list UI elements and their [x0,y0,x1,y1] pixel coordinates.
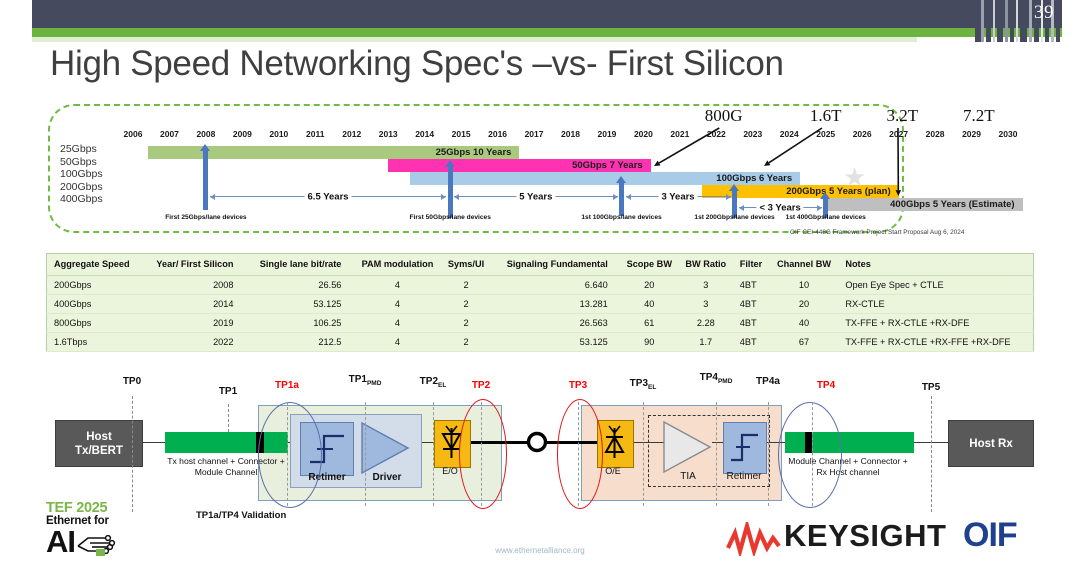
table-cell-r3-c2: 212.5 [246,333,354,352]
timeline-year-2026: 2026 [853,129,872,139]
table-cell-r0-c1: 2008 [143,276,246,295]
duration-span-label-0: 6.5 Years [305,192,352,203]
tx-host-channel-bar [165,432,260,453]
table-col-header-7: BW Ratio [679,254,733,276]
host-rx-block: Host Rx [948,420,1034,467]
table-cell-r3-c6: 90 [620,333,679,352]
table-col-header-5: Signaling Fundamental [490,254,619,276]
table-cell-r1-c6: 40 [620,295,679,314]
table-col-header-9: Channel BW [770,254,839,276]
first-silicon-tick-2 [619,182,624,216]
table-cell-r0-c7: 3 [679,276,733,295]
table-cell-r2-c2: 106.25 [246,314,354,333]
spec-table-wrapper: Aggregate SpeedYear/ First SiliconSingle… [46,253,1034,352]
timeline-year-2030: 2030 [999,129,1018,139]
first-silicon-label-1: First 50Gbps/lane devices [410,214,491,221]
table-cell-r0-c5: 6.640 [490,276,619,295]
timeline-year-2014: 2014 [415,129,434,139]
eo-label: E/O [442,466,458,476]
first-silicon-label-2: 1st 100Gbps/lane devices [581,214,661,221]
table-col-header-3: PAM modulation [353,254,441,276]
table-row: 800Gbps2019106.254226.563612.284BT40TX-F… [47,314,1034,333]
first-silicon-label-4: 1st 400Gbps/lane devices [786,214,866,221]
test-point-label-tp2: TP2 [472,380,490,391]
header-accent-bar-light [32,37,917,42]
fiber-connector-icon [523,429,551,455]
duration-span-label-2: 3 Years [658,192,697,203]
table-col-header-6: Scope BW [620,254,679,276]
timeline-bar-1: 50Gbps 7 Years [388,159,651,172]
duration-span-label-3: < 3 Years [756,203,803,214]
generation-label-1.6T: 1.6T [810,106,842,126]
timeline-year-2016: 2016 [488,129,507,139]
timeline-year-2018: 2018 [561,129,580,139]
tp5-dashline [931,396,932,512]
timeline-year-2009: 2009 [233,129,252,139]
host-rx-label: Host Rx [969,437,1012,451]
timeline-year-2017: 2017 [525,129,544,139]
table-cell-r3-c10: TX-FFE + RX-CTLE +RX-FFE +RX-DFE [838,333,1033,352]
test-point-label-tp4pmd: TP4PMD [700,372,733,385]
timeline-bar-label-3: 200Gbps 5 Years (plan) [786,186,890,197]
driver-label: Driver [373,472,402,483]
tp4-ellipse [778,402,842,508]
table-row: 1.6Tbps2022212.54253.125901.74BT67TX-FFE… [47,333,1034,352]
table-col-header-10: Notes [838,254,1033,276]
timeline: 2006200720082009201020112012201320142015… [48,104,1048,234]
test-point-label-tp4: TP4 [817,380,835,391]
table-col-header-1: Year/ First Silicon [143,254,246,276]
tp3-ellipse [557,399,603,509]
timeline-year-2010: 2010 [269,129,288,139]
table-row: 200Gbps200826.56426.6402034BT10Open Eye … [47,276,1034,295]
tef-logo-line1: TEF 2025 [46,500,136,516]
first-silicon-tick-1 [448,166,453,218]
rx-retimer-waveform-icon [723,422,765,472]
tp2el-dashline [433,402,434,506]
timeline-bar-label-2: 100Gbps 6 Years [716,173,792,184]
table-cell-r1-c0: 400Gbps [47,295,143,314]
spec-table: Aggregate SpeedYear/ First SiliconSingle… [46,253,1034,352]
table-cell-r3-c5: 53.125 [490,333,619,352]
table-header-row: Aggregate SpeedYear/ First SiliconSingle… [47,254,1034,276]
table-col-header-0: Aggregate Speed [47,254,143,276]
table-cell-r3-c8: 4BT [733,333,770,352]
table-cell-r2-c6: 61 [620,314,679,333]
tp4-dashline [812,402,813,506]
header-stripes [975,0,1080,42]
table-cell-r2-c10: TX-FFE + RX-CTLE +RX-DFE [838,314,1033,333]
generation-arrow-3.2T [886,124,910,204]
table-cell-r1-c10: RX-CTLE [838,295,1033,314]
table-cell-r3-c9: 67 [770,333,839,352]
timeline-year-2012: 2012 [342,129,361,139]
tp4a-dashline [768,402,769,506]
table-cell-r2-c5: 26.563 [490,314,619,333]
test-point-label-tp1: TP1 [219,386,237,397]
table-cell-r1-c2: 53.125 [246,295,354,314]
table-cell-r3-c1: 2022 [143,333,246,352]
table-cell-r3-c0: 1.6Tbps [47,333,143,352]
tia-label: TIA [680,471,696,482]
timeline-year-2028: 2028 [926,129,945,139]
first-silicon-label-0: First 25Gbps/lane devices [165,214,246,221]
tp1a-dashline [287,402,288,506]
duration-span-label-1: 5 Years [516,192,555,203]
test-point-label-tp1pmd: TP1PMD [349,374,382,387]
table-cell-r0-c4: 2 [442,276,491,295]
tp4pmd-dashline [716,402,717,506]
decorative-star-icon: ★ [843,164,869,190]
table-cell-r0-c8: 4BT [733,276,770,295]
first-silicon-label-3: 1st 200Gbps/lane devices [694,214,774,221]
driver-amplifier-icon [358,419,414,477]
first-silicon-tick-0 [203,150,208,210]
timeline-bar-2: 100Gbps 6 Years [410,172,800,185]
test-point-label-tp3el: TP3EL [630,378,657,391]
table-body: 200Gbps200826.56426.6402034BT10Open Eye … [47,276,1034,352]
timeline-year-2008: 2008 [196,129,215,139]
test-point-label-tp4a: TP4a [756,376,780,387]
tp3el-dashline [643,402,644,506]
test-point-label-tp1a: TP1a [275,380,299,391]
table-cell-r1-c5: 13.281 [490,295,619,314]
table-col-header-4: Syms/UI [442,254,491,276]
timeline-bar-label-0: 25Gbps 10 Years [436,147,512,158]
slide-root: 39 High Speed Networking Spec's –vs- Fir… [0,0,1080,568]
tia-amplifier-icon [660,418,716,476]
tp1a-ellipse [258,402,322,508]
header-accent-bar [32,28,1080,37]
table-row: 400Gbps201453.1254213.2814034BT20RX-CTLE [47,295,1034,314]
header-band [32,0,1080,28]
table-cell-r2-c8: 4BT [733,314,770,333]
timeline-year-2013: 2013 [379,129,398,139]
generation-label-3.2T: 3.2T [886,106,918,126]
speed-label-400g: 400Gbps [60,193,130,206]
generation-arrow-800G [642,124,731,174]
validation-note: TP1a/TP4 Validation [196,510,286,521]
table-cell-r1-c3: 4 [353,295,441,314]
table-cell-r1-c9: 20 [770,295,839,314]
speed-label-25g: 25Gbps [60,143,130,156]
table-cell-r1-c7: 3 [679,295,733,314]
tp2-dashline [481,402,482,506]
timeline-year-2006: 2006 [124,129,143,139]
table-cell-r0-c10: Open Eye Spec + CTLE [838,276,1033,295]
table-cell-r0-c6: 20 [620,276,679,295]
timeline-speed-legend: 25Gbps 50Gbps 100Gbps 200Gbps 400Gbps [60,143,130,206]
table-cell-r2-c7: 2.28 [679,314,733,333]
keysight-wave-icon [726,522,782,556]
test-point-label-tp0: TP0 [123,376,141,387]
rx-retimer-label: Retimer [726,471,761,482]
table-cell-r2-c0: 800Gbps [47,314,143,333]
table-cell-r2-c1: 2019 [143,314,246,333]
tp3-dashline [578,402,579,506]
generation-label-7.2T: 7.2T [963,106,995,126]
timeline-source-note: OIF CEI-448G Framework Project Start Pro… [790,229,964,236]
generation-arrow-1.6T [752,124,834,174]
oif-logo: OIF [963,516,1017,555]
timeline-year-2007: 2007 [160,129,179,139]
tp1pmd-dashline [365,402,366,506]
test-point-label-tp5: TP5 [922,382,940,393]
timeline-bar-label-1: 50Gbps 7 Years [572,160,643,171]
oe-label: O/E [605,466,621,476]
timeline-bar-4: 400Gbps 5 Years (Estimate) [826,198,1023,211]
slide-number: 39 [1034,2,1054,24]
table-col-header-8: Filter [733,254,770,276]
table-cell-r0-c0: 200Gbps [47,276,143,295]
host-tx-line2: Tx/BERT [75,444,123,458]
host-tx-bert-block: Host Tx/BERT [55,420,143,467]
table-cell-r1-c8: 4BT [733,295,770,314]
page-title: High Speed Networking Spec's –vs- First … [50,44,784,84]
test-point-label-tp3: TP3 [569,380,587,391]
table-cell-r3-c3: 4 [353,333,441,352]
speed-label-100g: 100Gbps [60,168,130,181]
table-cell-r3-c7: 1.7 [679,333,733,352]
generation-label-800G: 800G [705,106,743,126]
table-col-header-2: Single lane bit/rate [246,254,354,276]
speed-label-200g: 200Gbps [60,181,130,194]
table-cell-r1-c4: 2 [442,295,491,314]
table-cell-r2-c9: 40 [770,314,839,333]
table-cell-r0-c3: 4 [353,276,441,295]
test-point-label-tp2el: TP2EL [420,376,447,389]
speed-label-50g: 50Gbps [60,156,130,169]
table-cell-r0-c9: 10 [770,276,839,295]
timeline-year-2011: 2011 [306,129,324,139]
table-cell-r1-c1: 2014 [143,295,246,314]
table-cell-r0-c2: 26.56 [246,276,354,295]
link-block-diagram: Host Tx/BERT Host Rx Tx host channel + C… [0,372,1080,517]
table-cell-r3-c4: 2 [442,333,491,352]
tp0-dashline [132,396,133,512]
timeline-year-2019: 2019 [597,129,616,139]
keysight-logo: KEYSIGHT [784,518,946,554]
host-tx-line1: Host [86,430,112,444]
table-cell-r2-c3: 4 [353,314,441,333]
tp2-ellipse [459,399,507,509]
timeline-year-2029: 2029 [962,129,981,139]
tp1-dashline [228,404,229,432]
table-cell-r2-c4: 2 [442,314,491,333]
timeline-year-2015: 2015 [452,129,471,139]
